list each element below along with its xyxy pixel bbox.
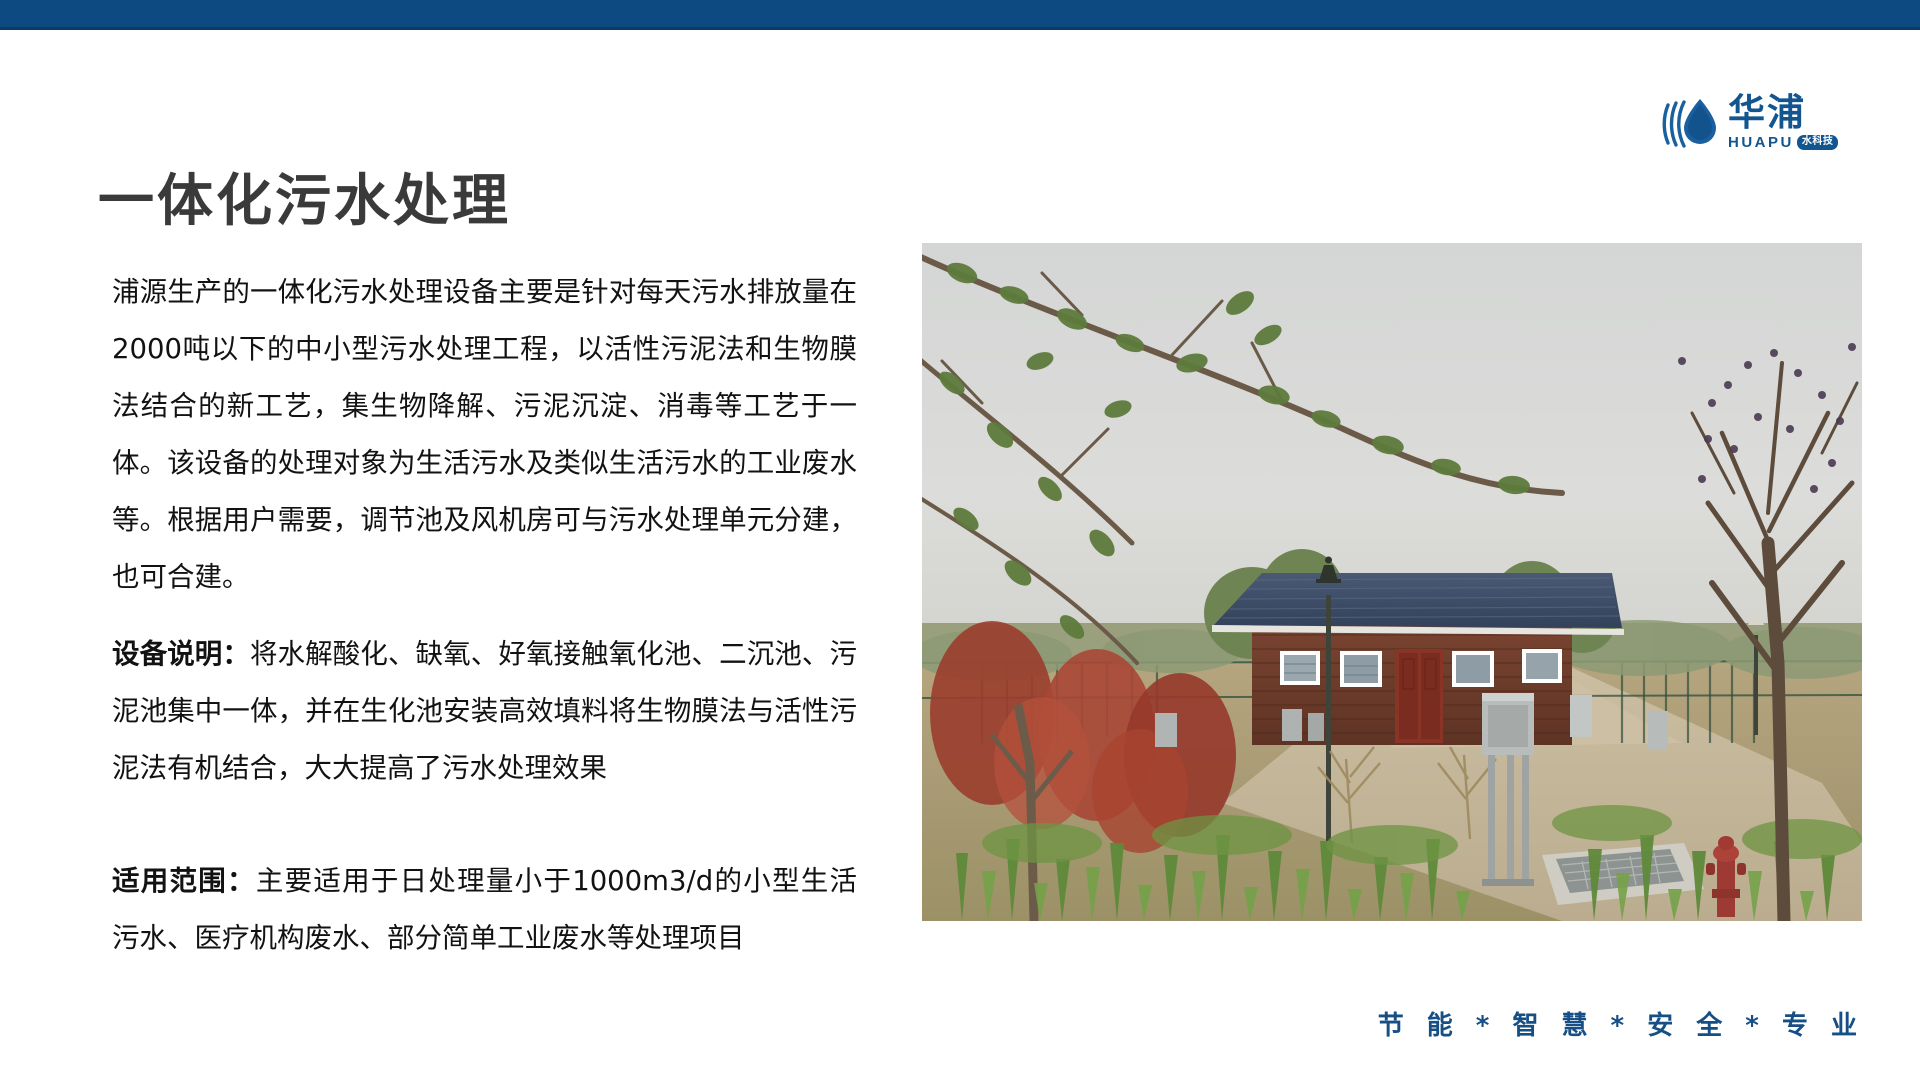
application-scope-lead: 适用范围： <box>112 865 256 897</box>
slide-canvas: 华浦 HUAPU 水科技 一体化污水处理 浦源生产的一体化污水处理设备主要是针对… <box>0 0 1920 1080</box>
body-text-column: 浦源生产的一体化污水处理设备主要是针对每天污水排放量在2000吨以下的中小型污水… <box>112 264 857 967</box>
paragraph-application-scope: 适用范围：主要适用于日处理量小于1000m3/d的小型生活污水、医疗机构废水、部… <box>112 853 857 967</box>
logo-brand-cn: 华浦 <box>1728 94 1806 131</box>
equipment-description-lead: 设备说明： <box>112 638 250 670</box>
top-accent-underline <box>0 27 1920 30</box>
brand-logo: 华浦 HUAPU 水科技 <box>1662 86 1862 158</box>
paragraph-equipment-description: 设备说明：将水解酸化、缺氧、好氧接触氧化池、二沉池、污泥池集中一体，并在生化池安… <box>112 626 857 797</box>
page-title: 一体化污水处理 <box>98 156 511 237</box>
logo-brand-latin: HUAPU <box>1728 135 1794 150</box>
water-drop-waves-logo-icon <box>1662 91 1724 153</box>
footer-tagline: 节 能 * 智 慧 * 安 全 * 专 业 <box>1378 1005 1864 1042</box>
top-accent-bar <box>0 0 1920 27</box>
site-photo <box>922 243 1862 921</box>
paragraph-intro: 浦源生产的一体化污水处理设备主要是针对每天污水排放量在2000吨以下的中小型污水… <box>112 264 857 606</box>
logo-badge-cn: 水科技 <box>1797 135 1839 150</box>
